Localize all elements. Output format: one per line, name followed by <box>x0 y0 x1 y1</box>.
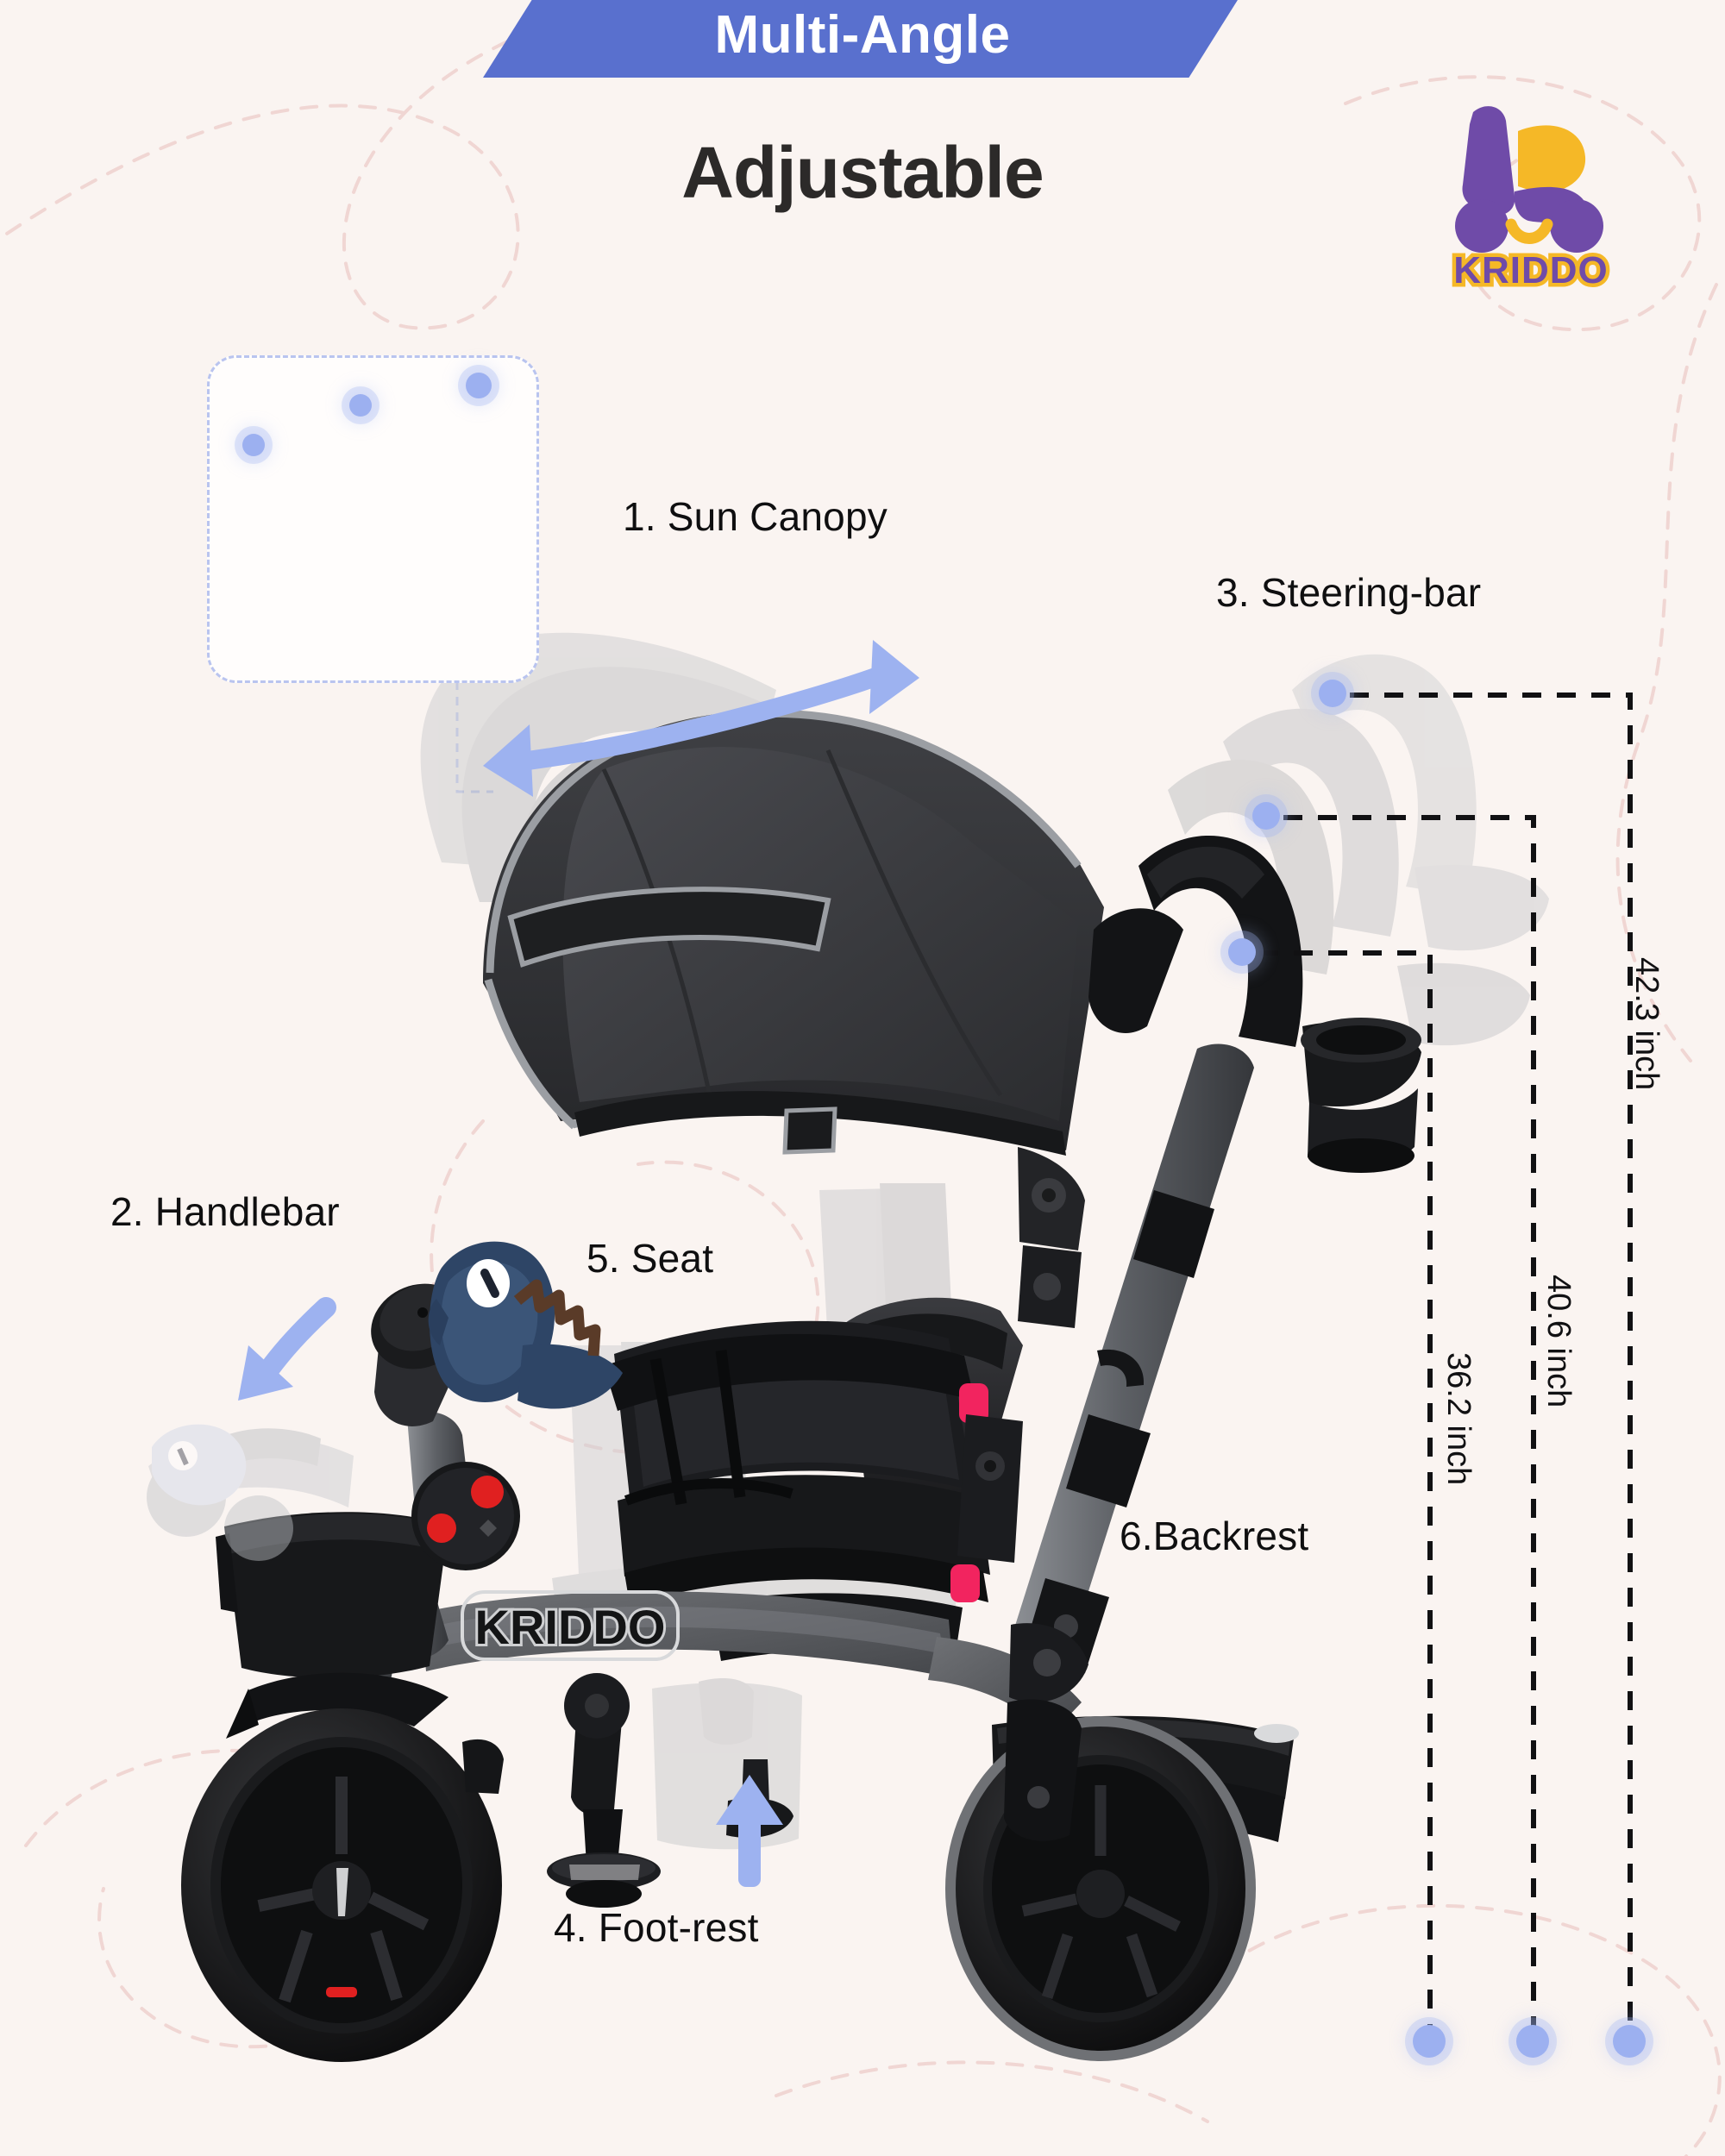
inset-canopy-position-dot-2[interactable] <box>349 394 372 417</box>
dimension-label-max: 42.3 inch <box>1628 957 1665 1090</box>
footrest-lift-arrow <box>716 1775 783 1887</box>
feature-label-foot-rest: 4. Foot-rest <box>554 1904 759 1951</box>
feature-label-seat: 5. Seat <box>586 1235 713 1282</box>
infographic-page: Multi-Angle Adjustable KRIDDO <box>0 0 1725 2156</box>
dimension-label-min: 36.2 inch <box>1440 1352 1477 1485</box>
inset-canopy-position-dot-3[interactable] <box>466 373 492 398</box>
handlebar-fold-arrow <box>238 1307 326 1401</box>
dimension-base-dot-min <box>1413 2025 1446 2058</box>
feature-label-backrest: 6.Backrest <box>1120 1513 1308 1559</box>
inset-canopy-position-dot-1[interactable] <box>242 434 265 456</box>
steering-position-dot-min[interactable] <box>1228 938 1256 966</box>
feature-label-steering-bar: 3. Steering-bar <box>1216 569 1481 616</box>
adjust-arrows <box>0 0 1725 2156</box>
steering-position-dot-max[interactable] <box>1319 680 1346 707</box>
steering-position-dot-mid[interactable] <box>1252 802 1280 830</box>
canopy-slide-arrow <box>483 640 919 797</box>
dimension-base-dot-max <box>1613 2025 1646 2058</box>
dimension-label-mid: 40.6 inch <box>1540 1275 1577 1407</box>
feature-label-handlebar: 2. Handlebar <box>110 1188 340 1235</box>
feature-label-sun-canopy: 1. Sun Canopy <box>623 493 888 540</box>
dimension-base-dot-mid <box>1516 2025 1549 2058</box>
